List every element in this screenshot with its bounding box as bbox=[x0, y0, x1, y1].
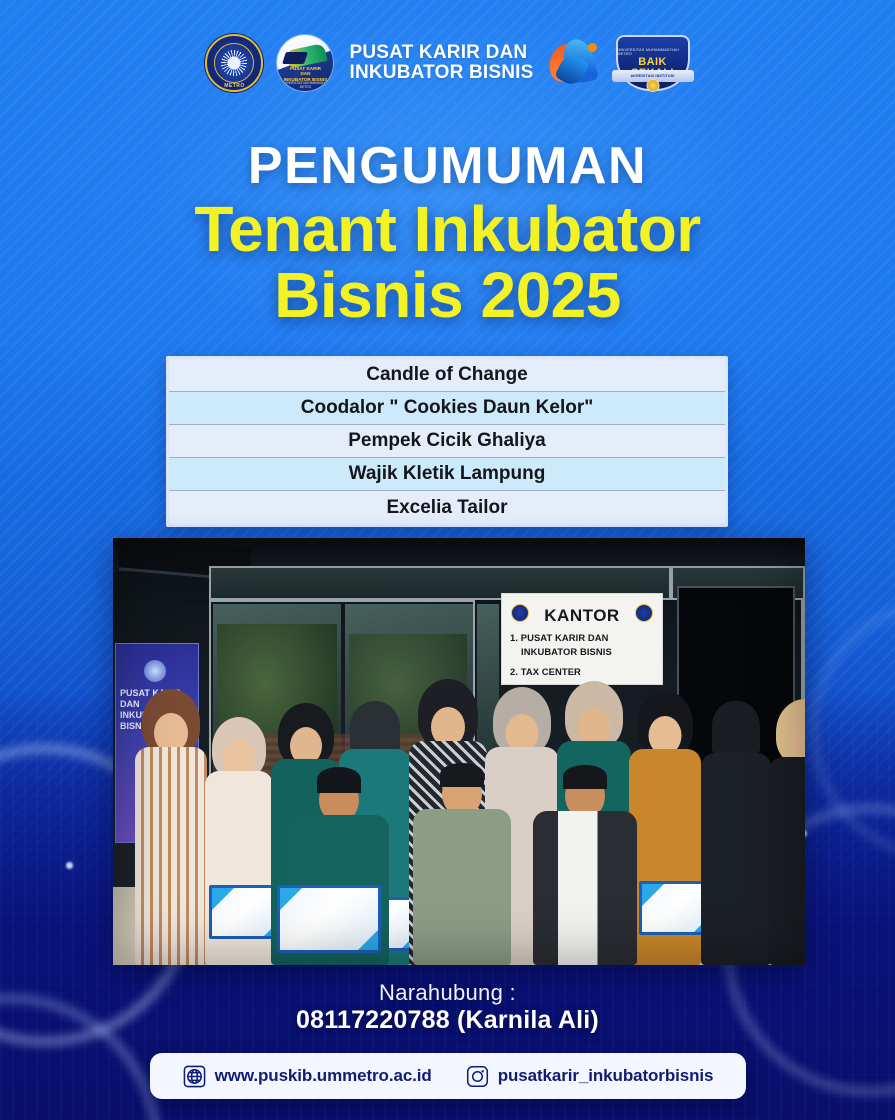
instagram-label: pusatkarir_inkubatorbisnis bbox=[498, 1066, 714, 1086]
badge-medal-icon bbox=[646, 79, 659, 92]
title-line-1: Tenant Inkubator bbox=[194, 193, 700, 265]
globe-icon bbox=[183, 1065, 206, 1088]
instagram-link[interactable]: pusatkarir_inkubatorbisnis bbox=[466, 1065, 714, 1088]
badge-top-text: UNIVERSITAS MUHAMMADIYAH METRO bbox=[618, 48, 688, 56]
sign-title: KANTOR bbox=[502, 606, 662, 626]
contact-label: Narahubung : bbox=[0, 980, 895, 1006]
page-title: Tenant Inkubator Bisnis 2025 bbox=[0, 196, 895, 328]
list-item: Candle of Change bbox=[169, 359, 725, 392]
poster-root: METRO PUSAT KARIR DAN INKUBATOR BISNIS U… bbox=[0, 0, 895, 1120]
person bbox=[533, 767, 637, 965]
spark-dot-icon bbox=[66, 862, 73, 869]
person bbox=[289, 769, 389, 965]
contact-phone: 08117220788 (Karnila Ali) bbox=[0, 1006, 895, 1035]
baik-sekali-badge-icon: UNIVERSITAS MUHAMMADIYAH METRO BAIK SEKA… bbox=[616, 35, 690, 91]
person bbox=[205, 701, 273, 965]
sign-line-2: INKUBATOR BISNIS bbox=[521, 646, 612, 657]
website-link[interactable]: www.puskib.ummetro.ac.id bbox=[183, 1065, 432, 1088]
person bbox=[629, 679, 701, 965]
group-photo: KANTOR 1. PUSAT KARIR DAN INKUBATOR BISN… bbox=[113, 538, 805, 965]
decorative-ring-icon bbox=[810, 600, 895, 860]
instagram-icon bbox=[466, 1065, 489, 1088]
person bbox=[769, 687, 805, 965]
badge-line1: BAIK bbox=[638, 57, 667, 68]
announcement-kicker: PENGUMUMAN bbox=[0, 136, 895, 196]
tenant-list: Candle of Change Coodalor " Cookies Daun… bbox=[166, 356, 728, 527]
list-item: Coodalor " Cookies Daun Kelor" bbox=[169, 392, 725, 425]
brand-title: PUSAT KARIR DAN INKUBATOR BISNIS bbox=[349, 43, 533, 83]
list-item: Excelia Tailor bbox=[169, 491, 725, 524]
kampus-merdeka-logo-icon bbox=[548, 36, 602, 90]
footer-contact-bar: www.puskib.ummetro.ac.id pusatkarir_inku… bbox=[150, 1053, 746, 1099]
title-line-2: Bisnis 2025 bbox=[0, 262, 895, 328]
puskib-sub: UNIVERSITAS MUHAMMADIYAH METRO bbox=[277, 81, 333, 89]
list-item: Wajik Kletik Lampung bbox=[169, 458, 725, 491]
brand-line-2: INKUBATOR BISNIS bbox=[349, 63, 533, 83]
sign-line-1: 1. PUSAT KARIR DAN bbox=[510, 632, 609, 643]
header-logo-row: METRO PUSAT KARIR DAN INKUBATOR BISNIS U… bbox=[0, 34, 895, 92]
person bbox=[701, 683, 771, 965]
brand-line-1: PUSAT KARIR DAN bbox=[349, 43, 533, 63]
um-metro-seal-icon: METRO bbox=[205, 34, 263, 92]
person bbox=[413, 765, 511, 965]
seal-bottom-text: METRO bbox=[205, 83, 263, 89]
website-label: www.puskib.ummetro.ac.id bbox=[215, 1066, 432, 1086]
list-item: Pempek Cicik Ghaliya bbox=[169, 425, 725, 458]
person bbox=[135, 673, 207, 965]
puskib-logo-icon: PUSAT KARIR DAN INKUBATOR BISNIS UNIVERS… bbox=[277, 35, 333, 91]
